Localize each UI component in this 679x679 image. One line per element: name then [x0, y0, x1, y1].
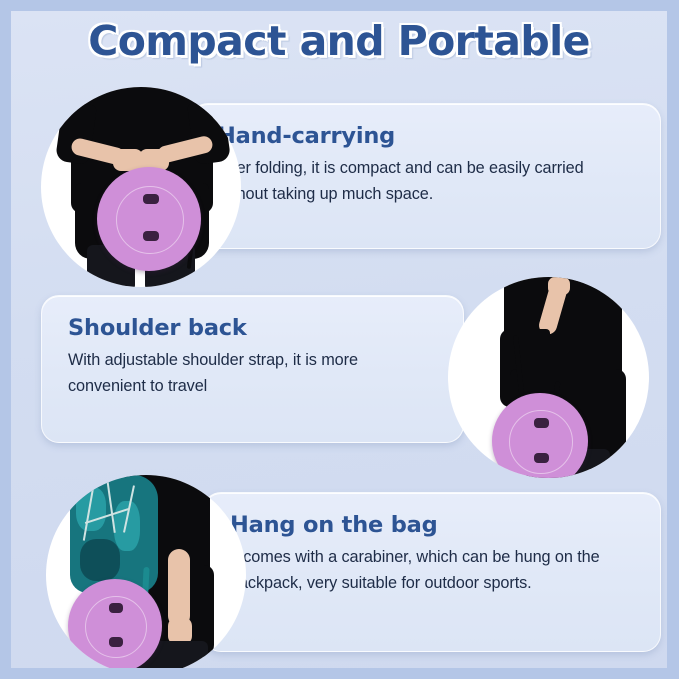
hand — [548, 277, 570, 295]
feature-card-hand-carrying: Hand-carrying After folding, it is compa… — [190, 103, 661, 249]
poster-title-container: Compact and Portable — [11, 21, 667, 62]
photo-scene-hand-carrying — [41, 87, 241, 287]
arm — [168, 549, 190, 627]
feature-photo-shoulder-back — [448, 277, 649, 478]
backpack-shadow-1 — [80, 539, 120, 581]
feature-row-hang-on-the-bag: Hang on the bag It comes with a carabine… — [11, 457, 667, 668]
disc-tab-top — [109, 603, 123, 613]
disc-tab-top — [143, 194, 159, 204]
page-title: Compact and Portable — [88, 21, 590, 62]
product-disc-icon — [97, 167, 201, 271]
product-disc-icon — [492, 393, 588, 478]
feature-row-shoulder-back: Shoulder back With adjustable shoulder s… — [11, 263, 667, 475]
feature-photo-hang-on-the-bag — [46, 475, 246, 668]
poster-panel: Compact and Portable Hand-carrying After… — [11, 11, 667, 668]
photo-scene-shoulder-back — [448, 277, 649, 478]
disc-tab-bottom — [109, 637, 123, 647]
disc-tab-bottom — [534, 453, 549, 463]
feature-card-hang-on-the-bag: Hang on the bag It comes with a carabine… — [203, 492, 661, 652]
disc-tab-top — [534, 418, 549, 428]
feature-photo-hand-carrying — [41, 87, 241, 287]
disc-tab-bottom — [143, 231, 159, 241]
product-infographic: Compact and Portable Hand-carrying After… — [0, 0, 679, 679]
feature-heading-hang-on-the-bag: Hang on the bag — [230, 513, 634, 538]
feature-heading-shoulder-back: Shoulder back — [68, 316, 437, 341]
backpack-cord-2 — [106, 479, 115, 533]
feature-card-shoulder-back: Shoulder back With adjustable shoulder s… — [41, 295, 464, 443]
product-disc-icon — [68, 579, 162, 668]
feature-row-hand-carrying: Hand-carrying After folding, it is compa… — [11, 69, 667, 281]
feature-heading-hand-carrying: Hand-carrying — [217, 124, 634, 149]
feature-body-hang-on-the-bag: It comes with a carabiner, which can be … — [230, 544, 634, 597]
feature-body-hand-carrying: After folding, it is compact and can be … — [217, 155, 634, 208]
feature-body-shoulder-back: With adjustable shoulder strap, it is mo… — [68, 347, 437, 400]
photo-scene-hang-on-the-bag — [46, 475, 246, 668]
